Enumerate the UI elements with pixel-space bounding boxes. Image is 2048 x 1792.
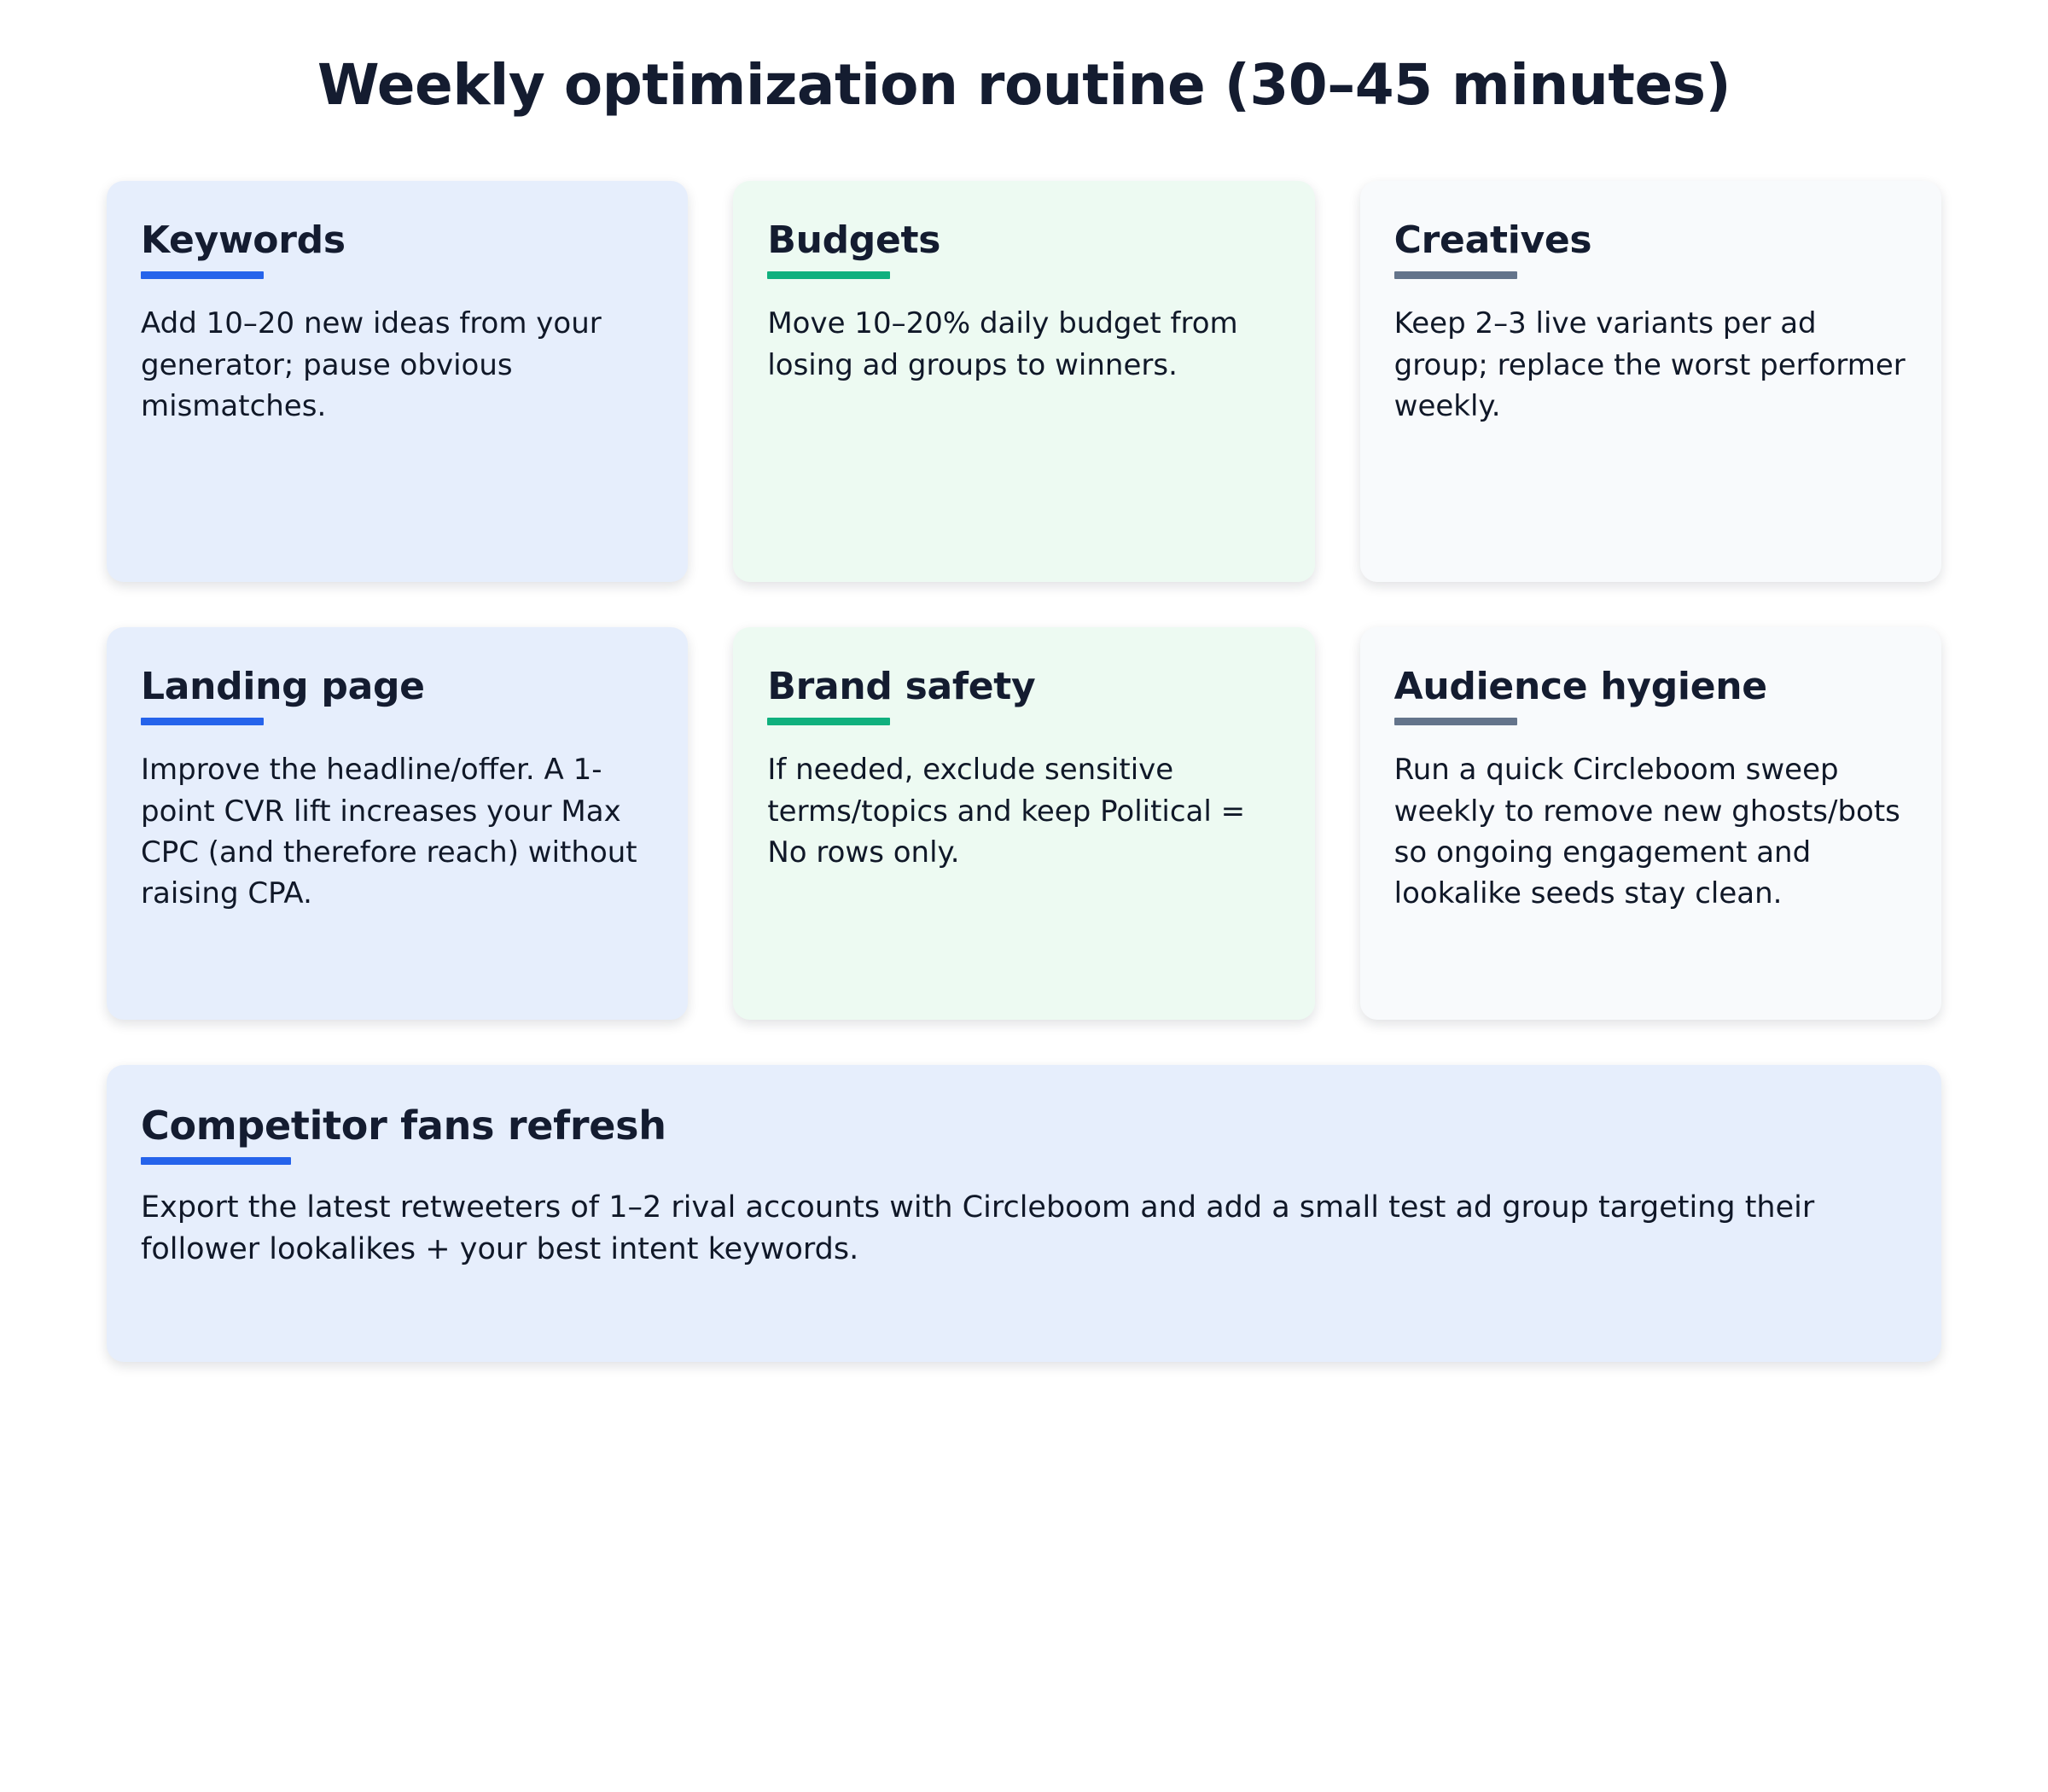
- card-title: Budgets: [767, 220, 1280, 261]
- accent-underline: [141, 718, 264, 725]
- card-keywords: Keywords Add 10–20 new ideas from your g…: [107, 181, 688, 582]
- page-title: Weekly optimization routine (30–45 minut…: [0, 0, 2048, 118]
- card-landing-page: Landing page Improve the headline/offer.…: [107, 627, 688, 1020]
- accent-underline: [767, 271, 890, 279]
- card-title: Keywords: [141, 220, 654, 261]
- card-body: Keep 2–3 live variants per ad group; rep…: [1394, 303, 1907, 427]
- card-body: Move 10–20% daily budget from losing ad …: [767, 303, 1280, 386]
- card-body: If needed, exclude sensitive terms/topic…: [767, 749, 1280, 873]
- card-body: Export the latest retweeters of 1–2 riva…: [141, 1187, 1907, 1271]
- card-title: Audience hygiene: [1394, 666, 1907, 707]
- card-audience-hygiene: Audience hygiene Run a quick Circleboom …: [1360, 627, 1941, 1020]
- card-title: Competitor fans refresh: [141, 1104, 1907, 1148]
- card-body: Add 10–20 new ideas from your generator;…: [141, 303, 654, 427]
- card-budgets: Budgets Move 10–20% daily budget from lo…: [733, 181, 1314, 582]
- card-body: Run a quick Circleboom sweep weekly to r…: [1394, 749, 1907, 914]
- cards-grid: Keywords Add 10–20 new ideas from your g…: [107, 181, 1941, 1362]
- card-body: Improve the headline/offer. A 1-point CV…: [141, 749, 654, 914]
- card-creatives: Creatives Keep 2–3 live variants per ad …: [1360, 181, 1941, 582]
- accent-underline: [1394, 718, 1517, 725]
- accent-underline: [1394, 271, 1517, 279]
- card-title: Landing page: [141, 666, 654, 707]
- card-competitor-fans-refresh: Competitor fans refresh Export the lates…: [107, 1065, 1941, 1362]
- accent-underline: [141, 1157, 291, 1165]
- card-title: Brand safety: [767, 666, 1280, 707]
- accent-underline: [141, 271, 264, 279]
- infographic-page: Weekly optimization routine (30–45 minut…: [0, 0, 2048, 1792]
- card-title: Creatives: [1394, 220, 1907, 261]
- accent-underline: [767, 718, 890, 725]
- card-brand-safety: Brand safety If needed, exclude sensitiv…: [733, 627, 1314, 1020]
